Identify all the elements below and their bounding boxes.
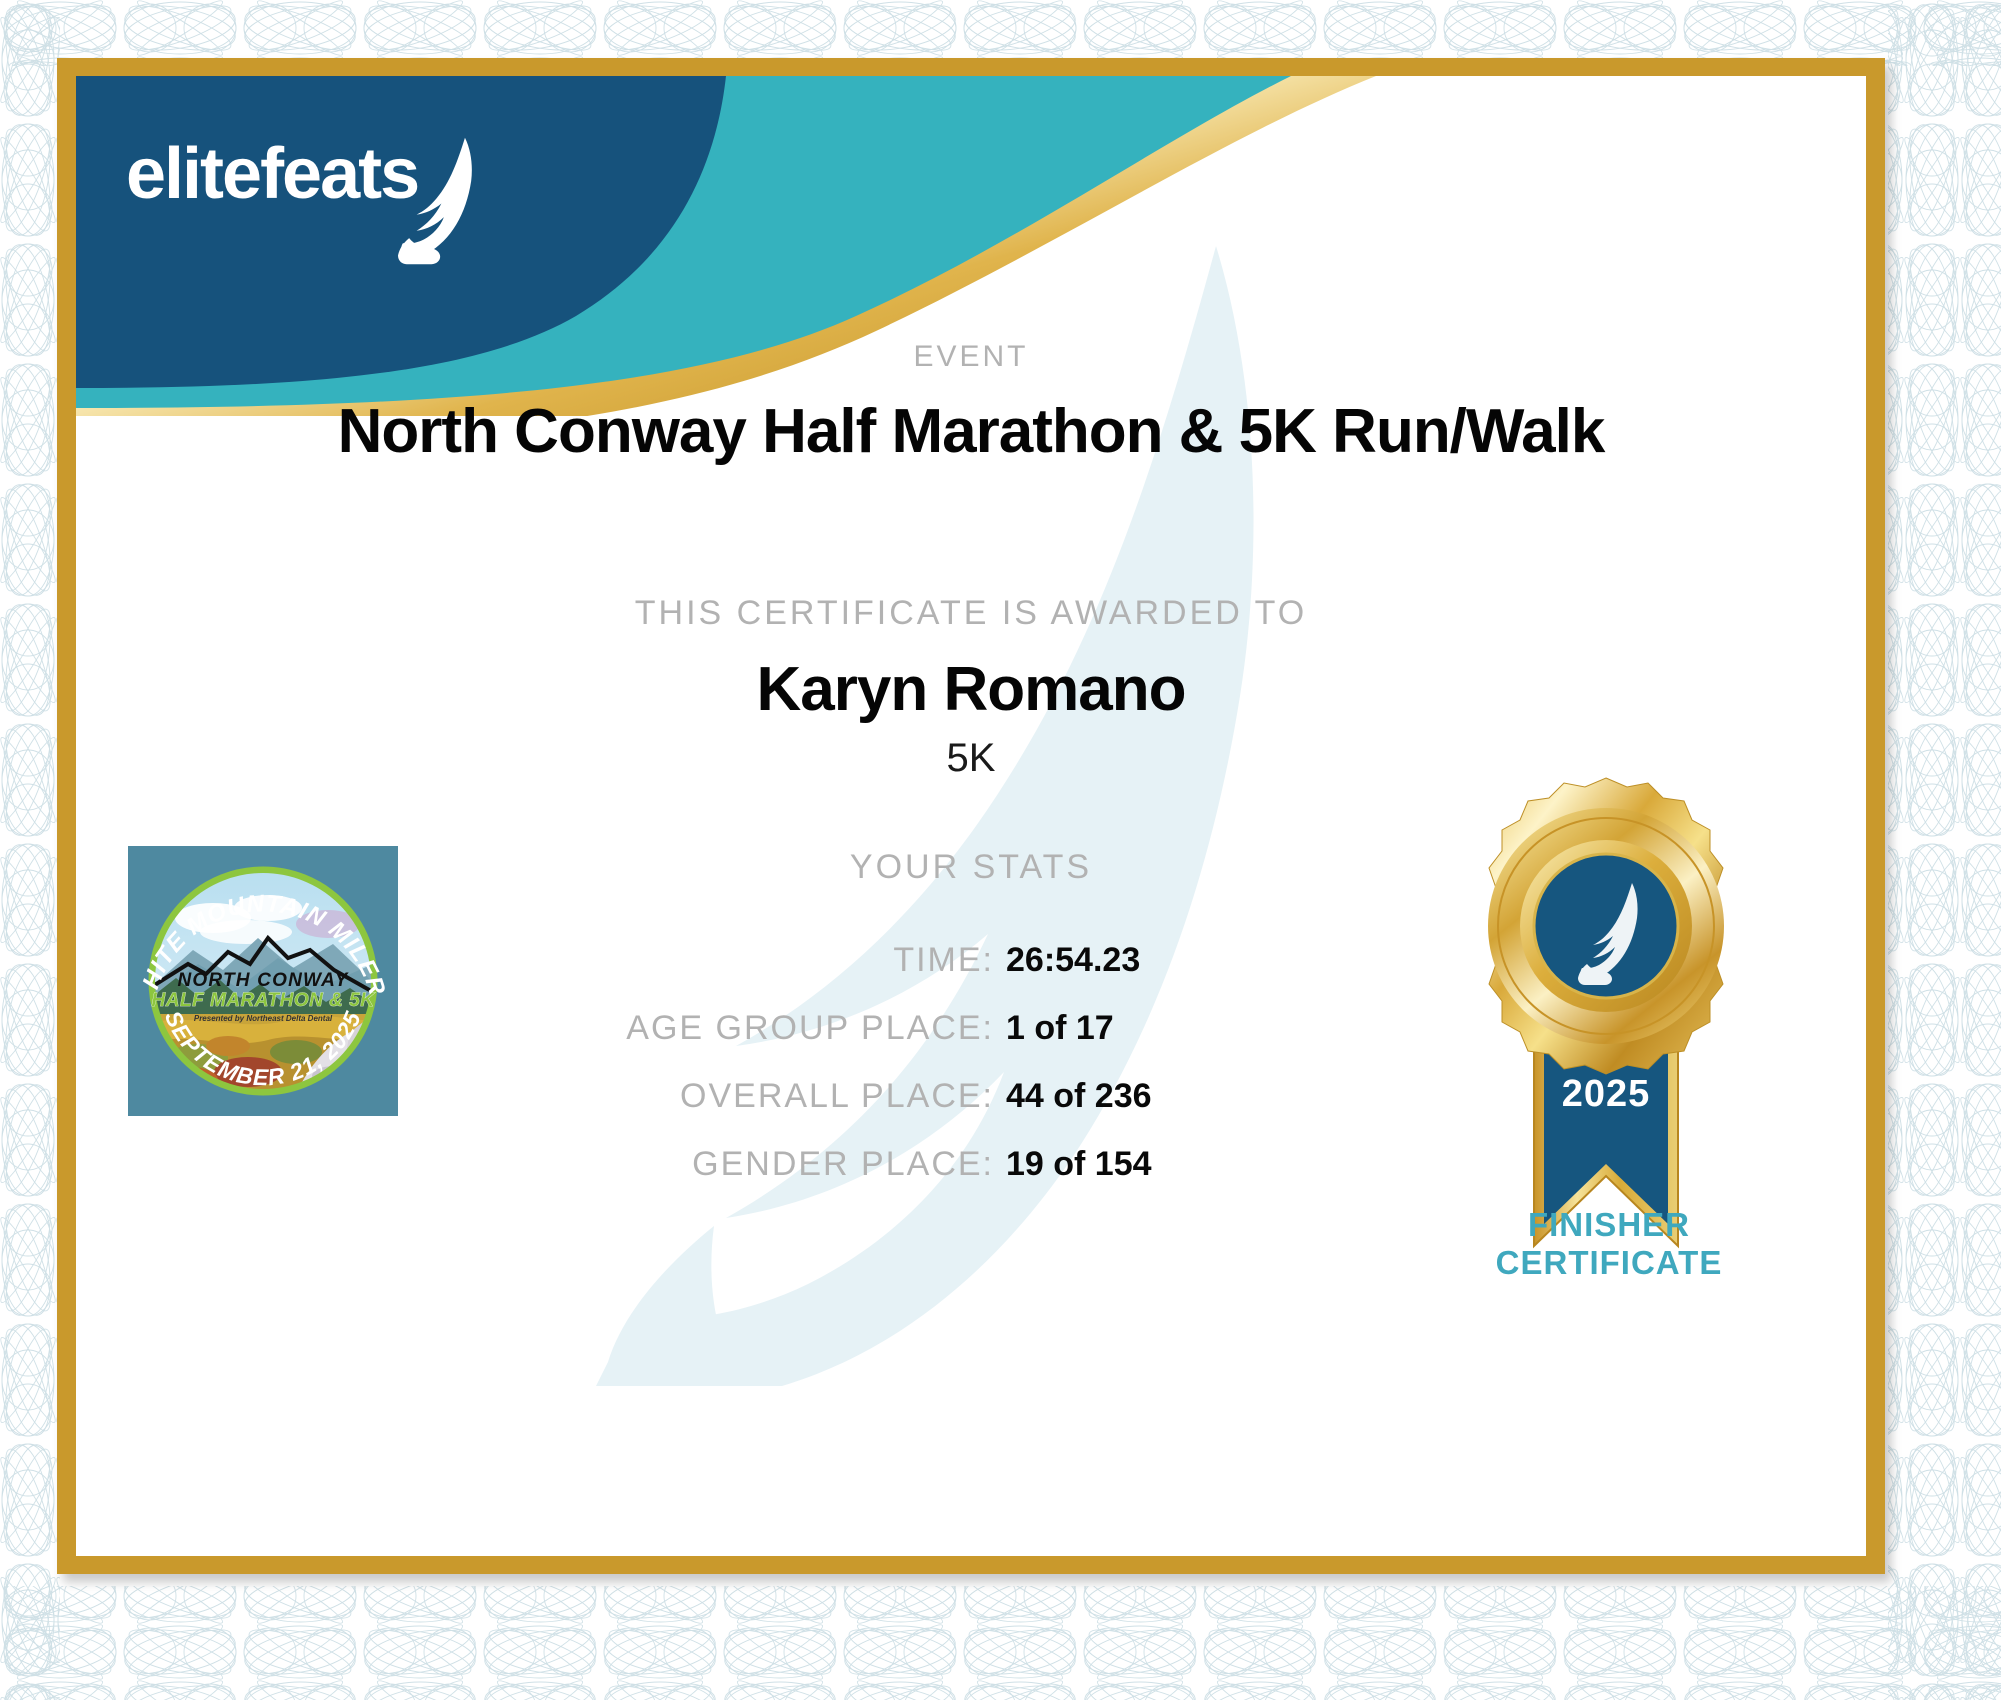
event-logo-badge: NORTH CONWAY HALF MARATHON & 5K Presente… bbox=[128, 846, 398, 1116]
finisher-caption-line1: FINISHER bbox=[1424, 1206, 1794, 1244]
recipient-name: Karyn Romano bbox=[76, 654, 1866, 725]
stat-value-age-group-place: 1 of 17 bbox=[1006, 1009, 1266, 1048]
stat-key-age-group-place: AGE GROUP PLACE: bbox=[626, 1009, 1006, 1048]
recipient-category: 5K bbox=[76, 736, 1866, 781]
stat-value-time: 26:54.23 bbox=[1006, 941, 1266, 980]
stat-row-age-group-place: AGE GROUP PLACE: 1 of 17 bbox=[346, 1009, 1266, 1077]
stat-key-time: TIME: bbox=[893, 941, 1006, 980]
event-title: North Conway Half Marathon & 5K Run/Walk bbox=[76, 396, 1866, 467]
finisher-certificate-caption: FINISHER CERTIFICATE bbox=[1424, 1206, 1794, 1282]
stat-key-overall-place: OVERALL PLACE: bbox=[680, 1077, 1006, 1116]
certificate-paper: elitefeats EVENT North Conway Half Marat… bbox=[76, 76, 1866, 1556]
stats-table: TIME: 26:54.23 AGE GROUP PLACE: 1 of 17 … bbox=[346, 941, 1266, 1213]
stat-key-gender-place: GENDER PLACE: bbox=[692, 1145, 1006, 1184]
medal-ribbon-year: 2025 bbox=[1562, 1073, 1651, 1115]
stat-row-gender-place: GENDER PLACE: 19 of 154 bbox=[346, 1145, 1266, 1213]
stat-row-overall-place: OVERALL PLACE: 44 of 236 bbox=[346, 1077, 1266, 1145]
stat-value-overall-place: 44 of 236 bbox=[1006, 1077, 1266, 1116]
event-label: EVENT bbox=[76, 340, 1866, 374]
awarded-to-label: THIS CERTIFICATE IS AWARDED TO bbox=[76, 594, 1866, 633]
logo-center-line2: HALF MARATHON & 5K bbox=[152, 990, 376, 1011]
finisher-caption-line2: CERTIFICATE bbox=[1424, 1244, 1794, 1282]
stat-value-gender-place: 19 of 154 bbox=[1006, 1145, 1266, 1184]
logo-center-line1: NORTH CONWAY bbox=[178, 970, 350, 991]
stat-row-time: TIME: 26:54.23 bbox=[346, 941, 1266, 1009]
logo-center-line3: Presented by Northeast Delta Dental bbox=[194, 1014, 333, 1023]
